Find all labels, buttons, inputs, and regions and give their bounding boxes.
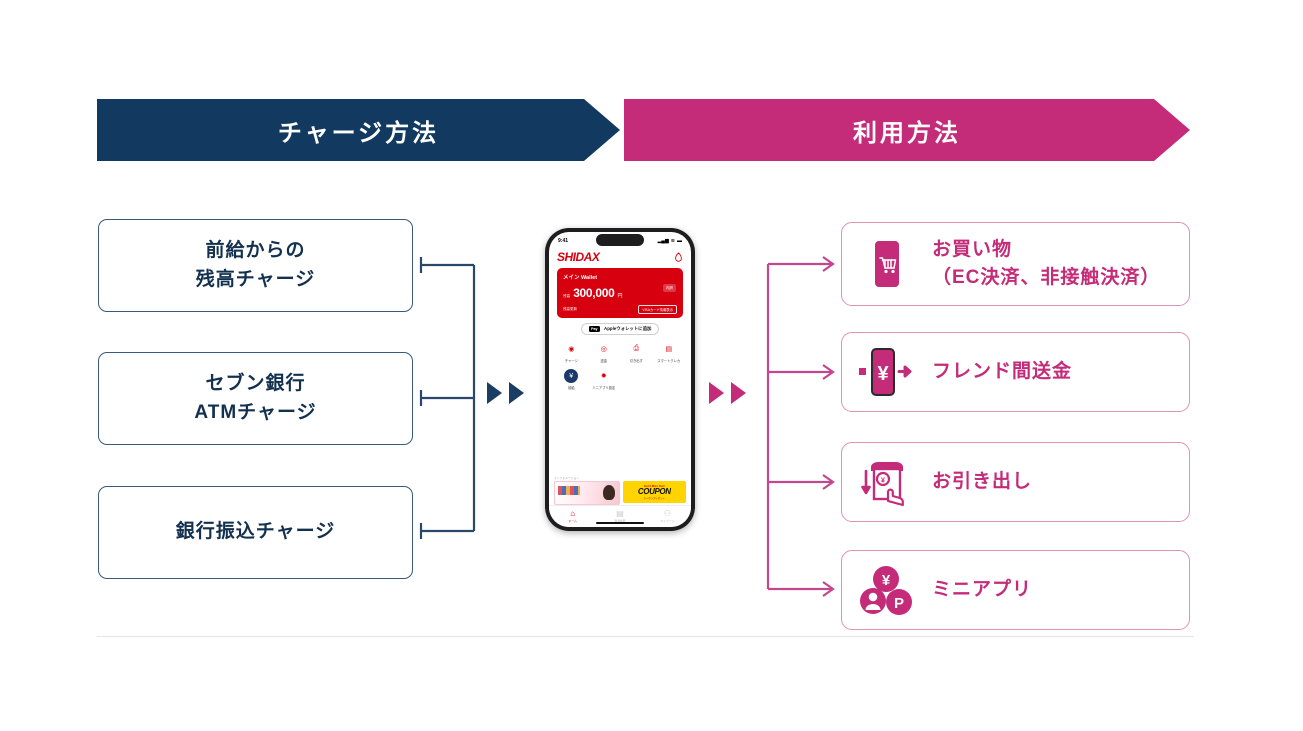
- quick-action-mini-app-settings-label: ミニアプリ設定: [592, 385, 615, 390]
- banner-charge-method: チャージ方法: [97, 99, 620, 161]
- coupon-title: COUPON: [638, 488, 671, 496]
- bottom-divider: [97, 636, 1194, 637]
- advance-pay-icon: ¥: [564, 369, 578, 383]
- quick-actions-row-1: ◉ チャージ ◎ 送金 ⎙ 引き出す ▤ スマートクレカ: [549, 342, 691, 363]
- navy-arrow-markers: [487, 382, 524, 404]
- quick-action-transfer[interactable]: ◎ 送金: [588, 342, 621, 363]
- usage-icon-slot-1: ¥: [858, 347, 916, 397]
- usage-method-1-label: フレンド間送金: [932, 358, 1072, 386]
- withdraw-icon: ⎙: [629, 342, 643, 356]
- charge-icon: ◉: [564, 342, 578, 356]
- charge-method-box-0[interactable]: 前給からの 残高チャージ: [98, 219, 413, 312]
- quick-action-transfer-label: 送金: [600, 358, 607, 363]
- quick-action-spacer-2: [653, 369, 686, 390]
- tab-account[interactable]: ⚇ マイページ: [644, 510, 691, 523]
- usage-method-box-0[interactable]: お買い物 （EC決済、非接触決済）: [841, 222, 1190, 306]
- account-icon: ⚇: [664, 510, 671, 518]
- quick-action-advance-pay[interactable]: ¥ 前給: [555, 369, 588, 390]
- usage-method-1-line1: フレンド間送金: [932, 358, 1072, 386]
- quick-action-smart-credit[interactable]: ▤ スマートクレカ: [653, 342, 686, 363]
- wallet-balance-row: 残高 300,000 円: [563, 286, 677, 300]
- banner-charge-label: チャージ方法: [278, 113, 439, 148]
- pink-arrow-markers: [709, 382, 746, 404]
- promo-banner-coupon[interactable]: Don't Miss Out! COUPON クーポンプレゼント: [623, 481, 687, 503]
- pink-triangle-icon-2: [731, 382, 746, 404]
- usage-method-box-2[interactable]: ¥ お引き出し: [841, 442, 1190, 522]
- quick-action-charge[interactable]: ◉ チャージ: [555, 342, 588, 363]
- add-to-apple-wallet-button[interactable]: Pay Appleウォレットに追加: [581, 323, 660, 335]
- home-indicator: [596, 522, 644, 524]
- wallet-title: メイン Wallet: [563, 273, 677, 281]
- quick-action-withdraw[interactable]: ⎙ 引き出す: [620, 342, 653, 363]
- app-header: SHIDAX: [549, 247, 691, 266]
- coupon-sub-text: クーポンプレゼント: [644, 496, 665, 500]
- usage-method-3-line1: ミニアプリ: [932, 576, 1032, 604]
- signal-icon: ▂▄▆: [658, 238, 669, 244]
- quick-action-withdraw-label: 引き出す: [630, 358, 643, 363]
- smart-credit-card-icon: ▤: [662, 342, 676, 356]
- svg-text:¥: ¥: [877, 363, 889, 385]
- usage-icon-slot-3: ¥ P: [858, 564, 916, 616]
- shidax-logo: SHIDAX: [557, 250, 599, 264]
- tab-home[interactable]: ⌂ ホーム: [549, 510, 596, 523]
- banner-usage-method: 利用方法: [624, 99, 1190, 161]
- usage-method-box-3[interactable]: ¥ P ミニアプリ: [841, 550, 1190, 630]
- usage-method-box-1[interactable]: ¥ フレンド間送金: [841, 332, 1190, 412]
- promo-caption: インフォメーション: [554, 476, 686, 480]
- transfer-icon: ◎: [597, 342, 611, 356]
- apple-pay-label: Appleウォレットに追加: [604, 326, 651, 332]
- quick-action-charge-label: チャージ: [565, 358, 578, 363]
- refresh-balance-button[interactable]: 残高更新: [563, 307, 577, 312]
- quick-actions-row-2: ¥ 前給 ✹ ミニアプリ設定: [549, 369, 691, 390]
- usage-method-2-line1: お引き出し: [932, 468, 1032, 496]
- usage-method-0-line1: お買い物: [932, 236, 1160, 264]
- tab-home-label: ホーム: [569, 519, 577, 523]
- navy-triangle-icon-1: [487, 382, 502, 404]
- atm-withdraw-hand-icon: ¥: [861, 457, 913, 507]
- quick-action-smart-credit-label: スマートクレカ: [657, 358, 680, 363]
- wallet-footer: 残高更新 VISAカード情報表示: [563, 305, 677, 314]
- charge-method-box-2[interactable]: 銀行振込チャージ: [98, 486, 413, 579]
- history-icon: ▤: [616, 510, 624, 518]
- charge-method-box-1[interactable]: セブン銀行 ATMチャージ: [98, 352, 413, 445]
- yen-person-point-circles-icon: ¥ P: [860, 564, 914, 616]
- svg-text:¥: ¥: [881, 478, 885, 485]
- diagram-canvas: チャージ方法 利用方法 前給からの: [0, 0, 1303, 731]
- quick-action-spacer-1: [620, 369, 653, 390]
- quick-action-advance-pay-label: 前給: [568, 385, 575, 390]
- apple-pay-badge: Pay: [589, 326, 600, 332]
- phone-notch: [596, 234, 644, 246]
- charge-method-0-line2: 残高チャージ: [196, 266, 315, 295]
- svg-text:¥: ¥: [882, 572, 891, 589]
- status-time: 9:41: [558, 238, 568, 244]
- tab-account-label: マイページ: [660, 519, 674, 523]
- promo-banner-left[interactable]: [554, 481, 620, 505]
- main-wallet-card[interactable]: メイン Wallet 残高 300,000 円 内訳 残高更新 VISAカード情…: [557, 268, 683, 318]
- phone-cart-icon: [872, 240, 902, 288]
- promo-banner-row: インフォメーション Don't Miss Out! COUPON クーポンプレゼ…: [549, 476, 691, 505]
- show-visa-card-button[interactable]: VISAカード情報表示: [638, 305, 677, 314]
- navy-triangle-icon-2: [509, 382, 524, 404]
- phone-screen: 9:41 ▂▄▆ ≋ ▬ SHIDAX メイン Wallet 残高 300,0: [549, 232, 691, 527]
- wifi-icon: ≋: [671, 238, 675, 244]
- promo-images: Don't Miss Out! COUPON クーポンプレゼント: [554, 481, 686, 505]
- usage-method-0-line2: （EC決済、非接触決済）: [932, 264, 1160, 292]
- charge-method-2-line1: 銀行振込チャージ: [176, 518, 335, 547]
- pink-triangle-icon-1: [709, 382, 724, 404]
- svg-text:P: P: [894, 595, 904, 612]
- battery-icon: ▬: [677, 238, 682, 244]
- notification-bell-icon[interactable]: [674, 252, 683, 263]
- banner-usage-label: 利用方法: [853, 113, 961, 148]
- balance-amount: 300,000: [573, 286, 614, 300]
- balance-breakdown-chip[interactable]: 内訳: [663, 284, 676, 292]
- quick-action-mini-app-settings[interactable]: ✹ ミニアプリ設定: [588, 369, 621, 390]
- phone-yen-transfer-icon: ¥: [859, 347, 915, 397]
- usage-icon-slot-0: [858, 240, 916, 288]
- status-indicators: ▂▄▆ ≋ ▬: [658, 238, 682, 244]
- phone-status-bar: 9:41 ▂▄▆ ≋ ▬: [549, 232, 691, 247]
- mini-app-settings-icon: ✹: [597, 369, 611, 383]
- apple-pay-row: Pay Appleウォレットに追加: [549, 323, 691, 335]
- usage-method-0-label: お買い物 （EC決済、非接触決済）: [932, 236, 1160, 291]
- usage-method-3-label: ミニアプリ: [932, 576, 1032, 604]
- charge-method-1-line2: ATMチャージ: [194, 399, 316, 428]
- currency-unit: 円: [617, 292, 622, 299]
- home-icon: ⌂: [570, 510, 575, 518]
- charge-method-0-line1: 前給からの: [196, 237, 315, 266]
- phone-mockup: 9:41 ▂▄▆ ≋ ▬ SHIDAX メイン Wallet 残高 300,0: [545, 228, 695, 531]
- usage-icon-slot-2: ¥: [858, 457, 916, 507]
- usage-method-2-label: お引き出し: [932, 468, 1032, 496]
- balance-label: 残高: [563, 294, 570, 299]
- charge-method-1-line1: セブン銀行: [194, 370, 316, 399]
